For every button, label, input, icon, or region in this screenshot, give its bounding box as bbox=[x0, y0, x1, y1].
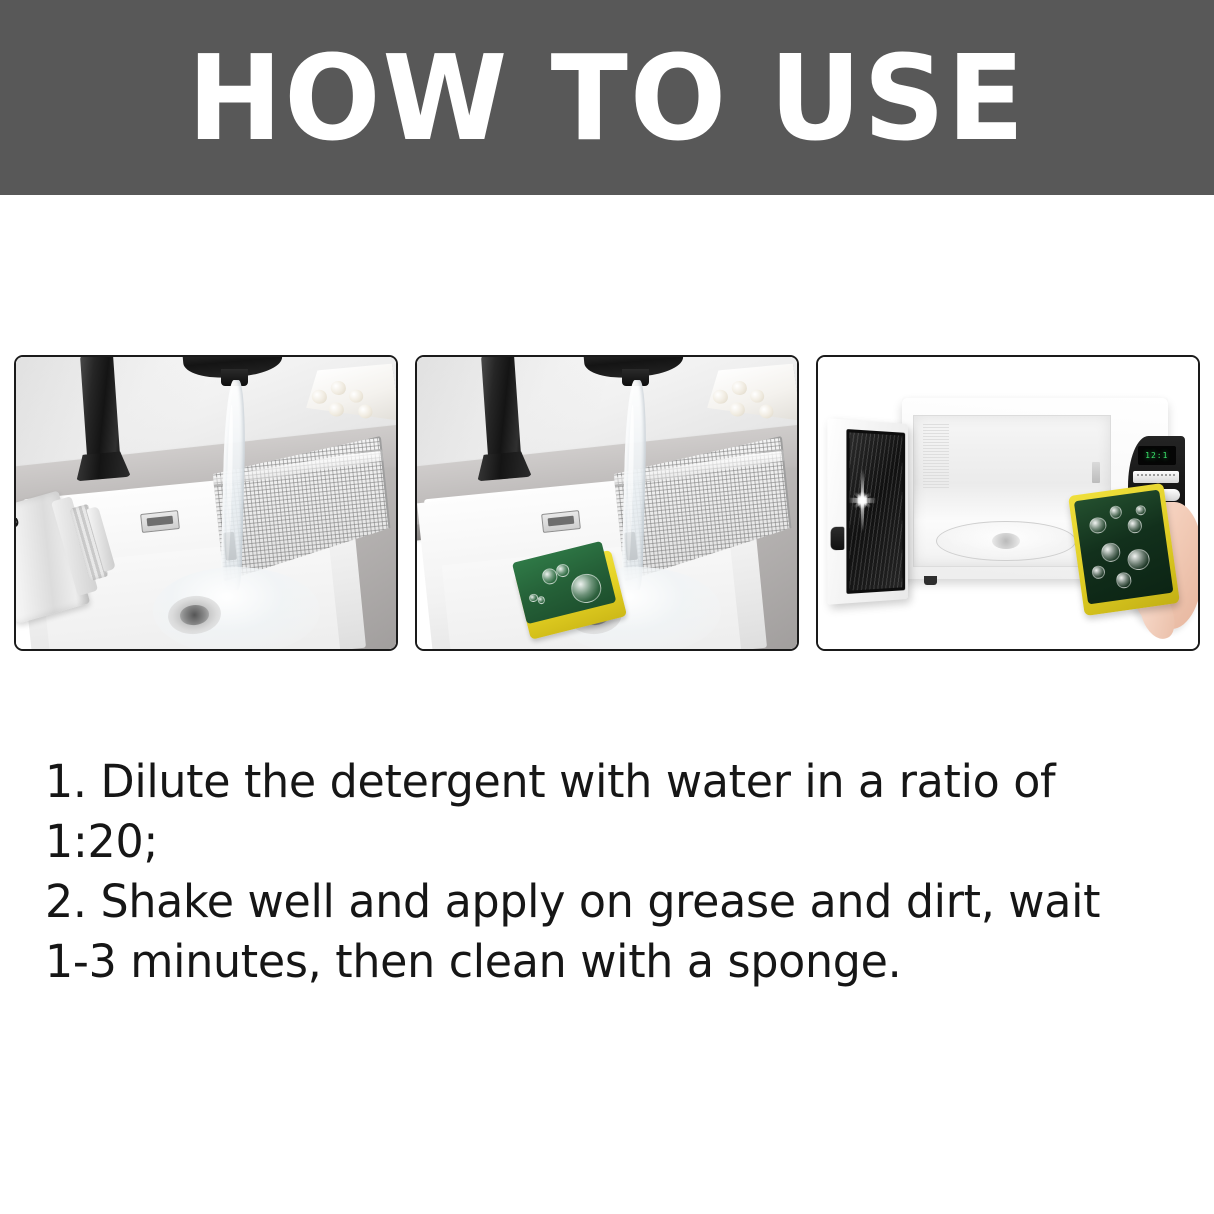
step-2-image-panel bbox=[415, 355, 799, 651]
bottle-subtitle: Concentrated bbox=[14, 482, 24, 530]
soap-bubble bbox=[536, 596, 544, 605]
microwave-scene: 12:1 1 2 3 bbox=[818, 357, 1198, 649]
instruction-line: 1-3 minutes, then clean with a sponge. bbox=[45, 932, 1158, 992]
steps-image-row: Jakehoe Concentrated bbox=[14, 355, 1200, 651]
foam-bubble bbox=[1127, 517, 1144, 533]
cavity-vents bbox=[923, 424, 950, 488]
overflow-plate bbox=[141, 510, 181, 533]
foam-bubble bbox=[1110, 505, 1124, 519]
soapy-sponge bbox=[1068, 483, 1180, 616]
foam-bubble bbox=[1089, 516, 1108, 535]
page-title: HOW TO USE bbox=[188, 39, 1027, 157]
sparkle-shine-icon bbox=[843, 473, 880, 528]
panel-info-bar bbox=[1133, 471, 1179, 484]
header-band: HOW TO USE bbox=[0, 0, 1214, 195]
overflow-plate bbox=[542, 510, 582, 533]
instruction-line: 2. Shake well and apply on grease and di… bbox=[45, 872, 1158, 932]
display-value: 12:1 bbox=[1145, 451, 1168, 460]
hand-holding-sponge bbox=[1076, 485, 1200, 649]
door-handle[interactable] bbox=[830, 526, 844, 550]
foam-bubble bbox=[1101, 541, 1122, 562]
sponge-scrub-layer bbox=[1074, 489, 1174, 604]
microwave-display: 12:1 bbox=[1138, 446, 1176, 466]
sink-scene-1: Jakehoe Concentrated bbox=[16, 357, 396, 649]
foam-bubble bbox=[1092, 564, 1107, 579]
sink-scene-2 bbox=[417, 357, 797, 649]
instructions-block: 1. Dilute the detergent with water in a … bbox=[45, 752, 1175, 992]
instruction-line: 1:20; bbox=[45, 812, 1158, 872]
door-latch bbox=[1092, 462, 1100, 482]
microwave-door[interactable] bbox=[827, 418, 907, 605]
microwave-foot bbox=[924, 576, 936, 585]
step-1-image-panel: Jakehoe Concentrated bbox=[14, 355, 398, 651]
turntable-plate bbox=[936, 521, 1077, 562]
step-3-image-panel: 12:1 1 2 3 bbox=[816, 355, 1200, 651]
instruction-line: 1. Dilute the detergent with water in a … bbox=[45, 752, 1158, 812]
how-to-use-infographic: HOW TO USE bbox=[0, 0, 1214, 1214]
foam-bubble bbox=[1135, 504, 1147, 516]
foam-bubble bbox=[1115, 571, 1133, 589]
foam-bubble bbox=[1126, 548, 1151, 572]
